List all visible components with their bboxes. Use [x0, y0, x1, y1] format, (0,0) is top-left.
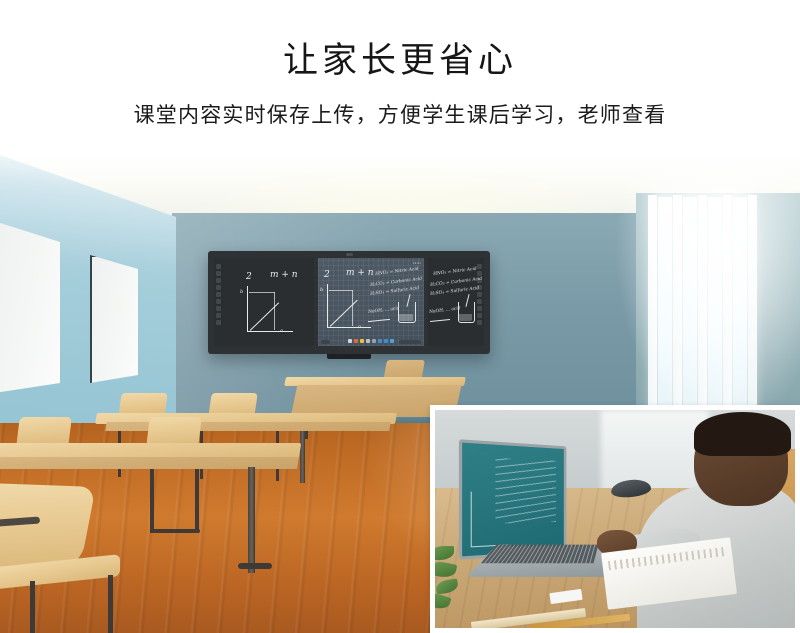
panel-side-controls[interactable]	[215, 264, 222, 325]
rail-button-icon[interactable]	[216, 292, 221, 297]
shape-tool-icon[interactable]	[378, 339, 382, 343]
panel-screen-middle[interactable]: 14:41 2 m + n b a HNO₃ = Nitric Acid H₂C…	[318, 258, 424, 346]
rail-button-icon[interactable]	[216, 285, 221, 290]
panel-camera-icon	[346, 253, 353, 256]
rail-button-icon[interactable]	[216, 306, 221, 311]
save-icon[interactable]	[390, 339, 394, 343]
beaker-liquid	[459, 314, 472, 321]
palette-icon[interactable]	[360, 339, 364, 343]
classroom-scene: 2 m + n b a 14:41 2 m + n b a	[0, 155, 800, 633]
chair-leg	[30, 581, 35, 633]
handwriting-coefficient: 2	[246, 272, 252, 282]
handwriting-coefficient: 2	[324, 270, 330, 280]
header-block: 让家长更省心 课堂内容实时保存上传，方便学生课后学习，老师查看	[0, 0, 800, 160]
interactive-flat-panel[interactable]: 2 m + n b a 14:41 2 m + n b a	[208, 251, 490, 354]
wall-whiteboard-1	[0, 221, 60, 397]
desk-leg	[300, 431, 305, 483]
handwriting-expression: m + n	[346, 268, 374, 278]
image-tool-icon[interactable]	[384, 339, 388, 343]
laptop-keyboard	[481, 545, 599, 564]
rail-button-icon[interactable]	[477, 320, 482, 325]
rail-button-icon[interactable]	[216, 278, 221, 283]
desk-foot	[238, 563, 272, 569]
chair-leg	[195, 469, 199, 531]
rail-button-icon[interactable]	[477, 264, 482, 269]
student-laptop-photo	[430, 405, 800, 633]
desk-leg	[248, 467, 255, 573]
page-title: 让家长更省心	[283, 42, 517, 81]
rail-button-icon[interactable]	[216, 264, 221, 269]
rail-button-icon[interactable]	[477, 299, 482, 304]
underline-stroke	[430, 319, 450, 322]
screen-clock: 14:41	[412, 261, 421, 265]
toolbar-right-controls[interactable]	[399, 340, 421, 344]
chair-crossbar	[150, 529, 200, 533]
panel-screen-left[interactable]: 2 m + n b a	[214, 258, 314, 346]
panel-stand	[327, 354, 371, 359]
chair-leg	[108, 575, 113, 633]
beaker-liquid	[399, 314, 413, 321]
rail-button-icon[interactable]	[216, 299, 221, 304]
page-subtitle: 课堂内容实时保存上传，方便学生课后学习，老师查看	[134, 103, 667, 128]
eraser-icon[interactable]	[372, 339, 376, 343]
rail-button-icon[interactable]	[216, 320, 221, 325]
panel-screen-right[interactable]: HNO₃ = Nitric Acid H₂CO₃ = Carbonic Acid…	[428, 258, 484, 346]
desk-plant	[435, 536, 482, 623]
rail-button-icon[interactable]	[216, 271, 221, 276]
student-hair	[694, 412, 791, 456]
promo-page: 让家长更省心 课堂内容实时保存上传，方便学生课后学习，老师查看	[0, 0, 800, 633]
rail-button-icon[interactable]	[477, 306, 482, 311]
rail-button-icon[interactable]	[477, 313, 482, 318]
handwriting-y-label: b	[320, 287, 323, 293]
highlighter-icon[interactable]	[354, 339, 358, 343]
wall-whiteboard-2	[90, 255, 140, 387]
rail-button-icon[interactable]	[216, 313, 221, 318]
handwriting-y-label: b	[240, 289, 243, 295]
rail-button-icon[interactable]	[477, 271, 482, 276]
handwriting-expression: m + n	[270, 270, 298, 280]
toolbar-left-pill[interactable]	[321, 340, 330, 344]
pen-tool-icon[interactable]	[348, 339, 352, 343]
chem-line-4: NaOH, ... acid	[429, 306, 461, 317]
whiteboard-toolbar[interactable]	[348, 339, 394, 343]
chair-leg	[150, 469, 154, 533]
text-tool-icon[interactable]	[366, 339, 370, 343]
